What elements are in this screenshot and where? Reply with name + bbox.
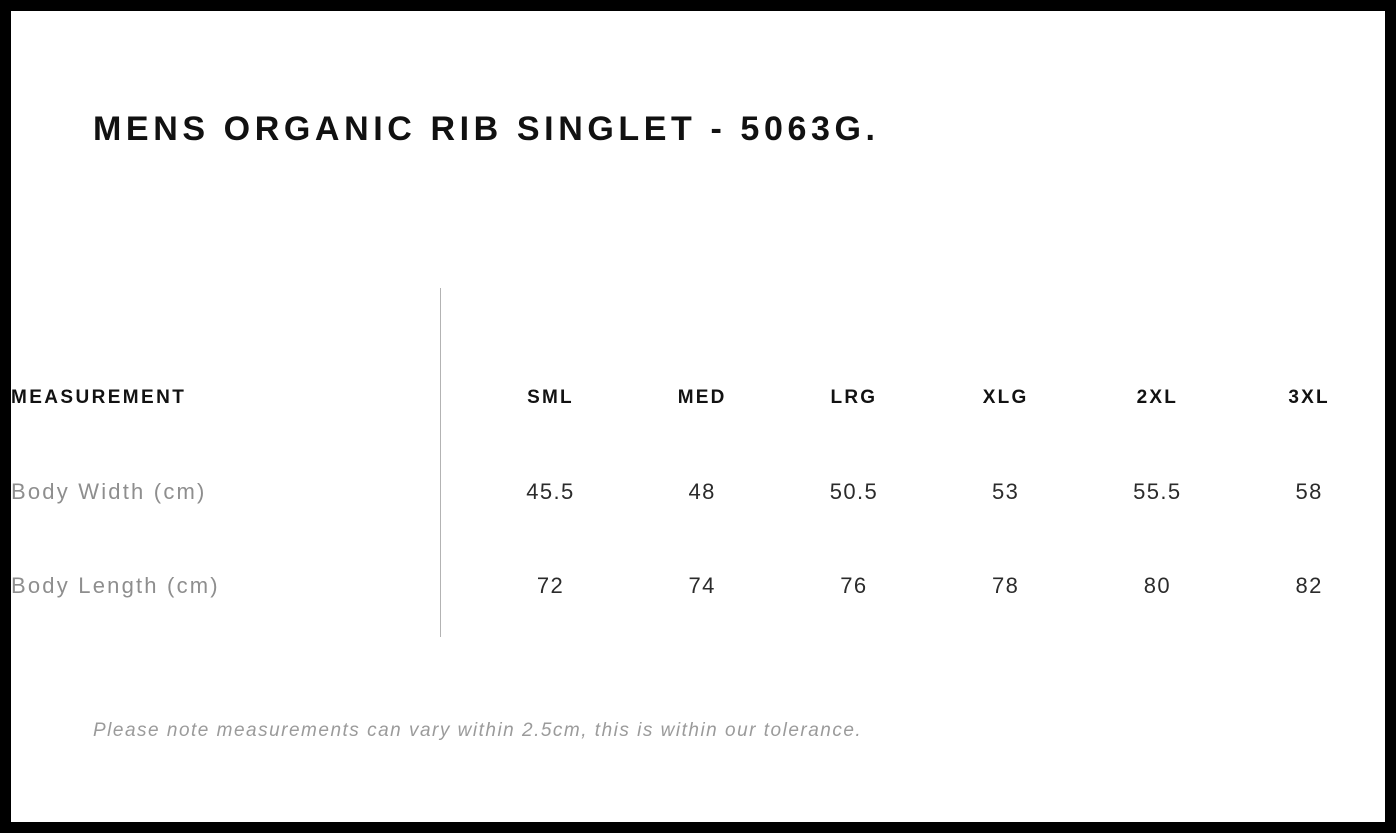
row-label-body-length: Body Length (cm) [11,539,475,633]
table-header-row: MEASUREMENT SML MED LRG XLG 2XL 3XL [11,351,1385,445]
column-header-xlg: XLG [930,351,1082,445]
cell-body-width-2xl: 55.5 [1081,445,1233,539]
cell-body-width-lrg: 50.5 [778,445,930,539]
cell-body-length-sml: 72 [475,539,627,633]
page-frame: MENS ORGANIC RIB SINGLET - 5063G. MEASUR… [0,0,1396,833]
cell-body-width-3xl: 58 [1233,445,1385,539]
size-chart-sheet: MENS ORGANIC RIB SINGLET - 5063G. MEASUR… [11,11,1385,822]
cell-body-length-xlg: 78 [930,539,1082,633]
page-title: MENS ORGANIC RIB SINGLET - 5063G. [93,107,880,151]
cell-body-width-med: 48 [626,445,778,539]
column-header-measurement: MEASUREMENT [11,351,475,445]
size-chart-table: MEASUREMENT SML MED LRG XLG 2XL 3XL Body… [11,351,1385,633]
table-row: Body Length (cm) 72 74 76 78 80 82 [11,539,1385,633]
column-header-lrg: LRG [778,351,930,445]
column-header-3xl: 3XL [1233,351,1385,445]
table-row: Body Width (cm) 45.5 48 50.5 53 55.5 58 [11,445,1385,539]
column-header-med: MED [626,351,778,445]
cell-body-length-2xl: 80 [1081,539,1233,633]
column-header-sml: SML [475,351,627,445]
column-header-2xl: 2XL [1081,351,1233,445]
tolerance-note: Please note measurements can vary within… [93,717,862,745]
cell-body-length-lrg: 76 [778,539,930,633]
cell-body-width-sml: 45.5 [475,445,627,539]
cell-body-length-med: 74 [626,539,778,633]
cell-body-width-xlg: 53 [930,445,1082,539]
row-label-body-width: Body Width (cm) [11,445,475,539]
cell-body-length-3xl: 82 [1233,539,1385,633]
